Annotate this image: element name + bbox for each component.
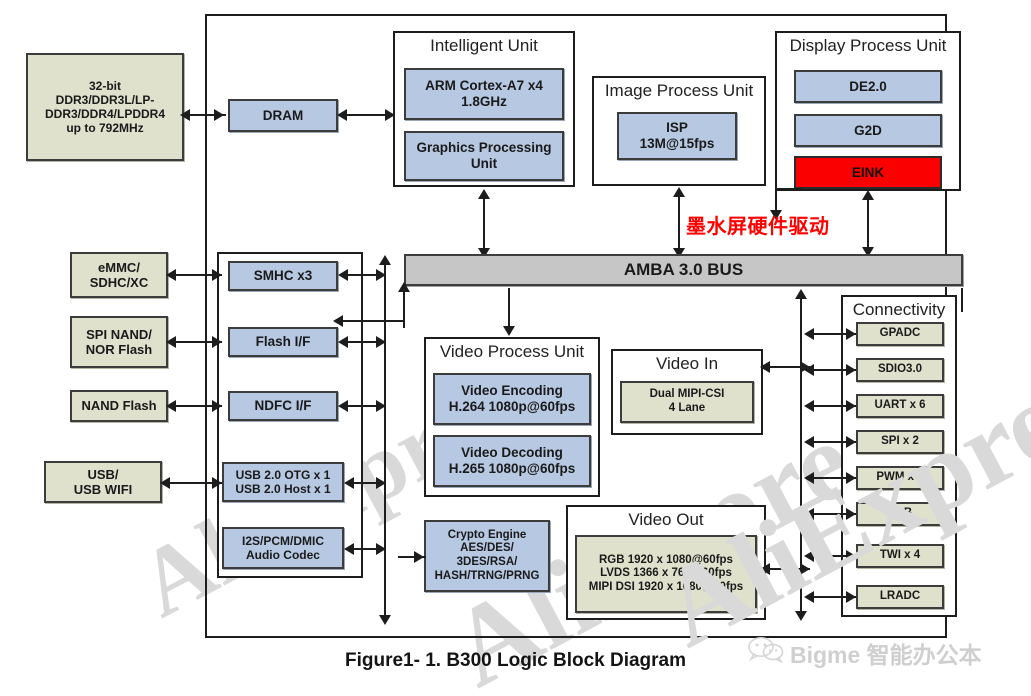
intelligent-unit-title: Intelligent Unit xyxy=(395,36,573,56)
block-uart: UART x 6 xyxy=(856,394,944,418)
block-dram: DRAM xyxy=(228,99,338,132)
chip-left-rail xyxy=(205,14,207,638)
block-twi: TWI x 4 xyxy=(856,544,944,568)
block-ndfc-if: NDFC I/F xyxy=(228,391,338,421)
external-usb: USB/ USB WIFI xyxy=(44,461,162,503)
block-usb-controller: USB 2.0 OTG x 1 USB 2.0 Host x 1 xyxy=(222,462,344,502)
block-de20: DE2.0 xyxy=(794,70,942,103)
figure-caption: Figure1- 1. B300 Logic Block Diagram xyxy=(0,650,1031,672)
eink-hardware-driver-annotation: 墨水屏硬件驱动 xyxy=(686,210,830,239)
display-process-unit-title: Display Process Unit xyxy=(777,36,959,56)
block-smhc: SMHC x3 xyxy=(228,261,338,291)
block-video-out-interfaces: RGB 1920 x 1080@60fps LVDS 1366 x 768@60… xyxy=(575,535,757,613)
block-gpadc: GPADC xyxy=(856,322,944,346)
connectivity-title: Connectivity xyxy=(843,300,955,320)
block-pwm: PWM x 3 xyxy=(856,466,944,490)
video-in-title: Video In xyxy=(613,354,761,374)
video-process-unit-title: Video Process Unit xyxy=(426,342,598,362)
block-gpu: Graphics Processing Unit xyxy=(404,131,564,181)
external-nand-flash: NAND Flash xyxy=(70,390,168,422)
block-crypto-engine: Crypto Engine AES/DES/ 3DES/RSA/ HASH/TR… xyxy=(424,520,550,592)
video-out-title: Video Out xyxy=(568,510,764,530)
block-arm-cortex-a7: ARM Cortex-A7 x4 1.8GHz xyxy=(404,68,564,120)
block-dual-mipi-csi: Dual MIPI-CSI 4 Lane xyxy=(620,381,754,423)
block-diagram-figure: AliExpress AliExpress 32-bit DDR3/DDR3L/… xyxy=(0,0,1031,696)
block-sdio30: SDIO3.0 xyxy=(856,358,944,382)
amba-bus: AMBA 3.0 BUS xyxy=(404,254,963,286)
block-lradc: LRADC xyxy=(856,585,944,609)
block-spi: SPI x 2 xyxy=(856,430,944,454)
block-eink: EINK xyxy=(794,156,942,189)
block-isp: ISP 13M@15fps xyxy=(617,112,737,160)
external-dram-memory: 32-bit DDR3/DDR3L/LP- DDR3/DDR4/LPDDR4 u… xyxy=(26,53,184,161)
block-flash-if: Flash I/F xyxy=(228,327,338,357)
external-emmc: eMMC/ SDHC/XC xyxy=(70,252,168,298)
external-spinand: SPI NAND/ NOR Flash xyxy=(70,316,168,368)
block-g2d: G2D xyxy=(794,114,942,147)
block-video-decoding: Video Decoding H.265 1080p@60fps xyxy=(433,435,591,487)
image-process-unit-title: Image Process Unit xyxy=(594,81,764,101)
block-video-encoding: Video Encoding H.264 1080p@60fps xyxy=(433,373,591,425)
block-rsb: RSB xyxy=(856,502,944,526)
block-audio-codec: I2S/PCM/DMIC Audio Codec xyxy=(222,527,344,569)
